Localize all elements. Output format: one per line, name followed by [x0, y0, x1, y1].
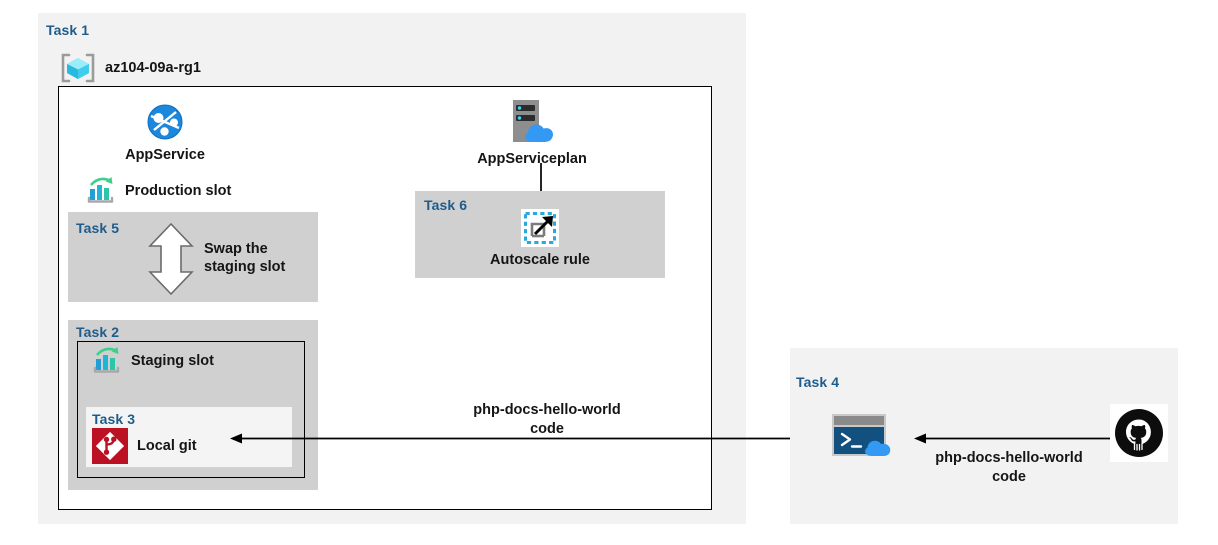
swap-label: Swap the staging slot	[204, 240, 285, 276]
staging-slot-node: Staging slot	[92, 346, 214, 376]
diagram-canvas: Task 1 az104-09a-rg1	[0, 0, 1218, 545]
production-slot-label: Production slot	[125, 182, 231, 200]
swap-label-line1: Swap the	[204, 240, 285, 258]
app-service-plan-icon	[505, 98, 559, 146]
task1-label: Task 1	[46, 22, 89, 38]
github-to-cloudshell-arrow	[912, 431, 1112, 447]
git-icon	[92, 428, 128, 464]
task5-label: Task 5	[76, 220, 119, 236]
github-node	[1110, 404, 1168, 462]
task4-label: Task 4	[796, 374, 839, 390]
task2-label: Task 2	[76, 324, 119, 340]
cloudshell-to-localgit-arrow	[228, 431, 822, 447]
staging-slot-label: Staging slot	[131, 352, 214, 370]
swap-label-line2: staging slot	[204, 258, 285, 276]
local-git-label: Local git	[137, 437, 197, 455]
autoscale-rule-node: Autoscale rule	[480, 209, 600, 269]
app-service-icon	[145, 102, 185, 142]
autoscale-rule-icon	[521, 209, 559, 247]
flow-label-line1: php-docs-hello-world	[452, 401, 642, 420]
local-git-node: Local git	[92, 428, 197, 464]
cloud-shell-icon	[830, 412, 902, 460]
appservice-node: AppService	[120, 102, 210, 164]
flow-label-line2: code	[918, 468, 1100, 487]
swap-double-arrow-icon	[146, 222, 196, 296]
appservice-label: AppService	[125, 146, 205, 164]
appserviceplan-label: AppServiceplan	[477, 150, 587, 168]
flow-label-line1: php-docs-hello-world	[918, 449, 1100, 468]
task6-label: Task 6	[424, 197, 467, 213]
deployment-slot-icon	[86, 176, 116, 206]
resource-group-label: az104-09a-rg1	[105, 59, 201, 77]
resource-group-cube-icon	[60, 52, 96, 84]
deployment-slot-icon	[92, 346, 122, 376]
task3-label: Task 3	[92, 411, 135, 427]
autoscale-rule-label: Autoscale rule	[490, 251, 590, 269]
production-slot-node: Production slot	[86, 176, 231, 206]
resource-group-node: az104-09a-rg1	[60, 52, 201, 84]
appserviceplan-node: AppServiceplan	[470, 98, 594, 168]
github-to-cloudshell-flow-label: php-docs-hello-world code	[918, 449, 1100, 487]
github-icon	[1110, 404, 1168, 462]
cloud-shell-node	[830, 412, 902, 460]
